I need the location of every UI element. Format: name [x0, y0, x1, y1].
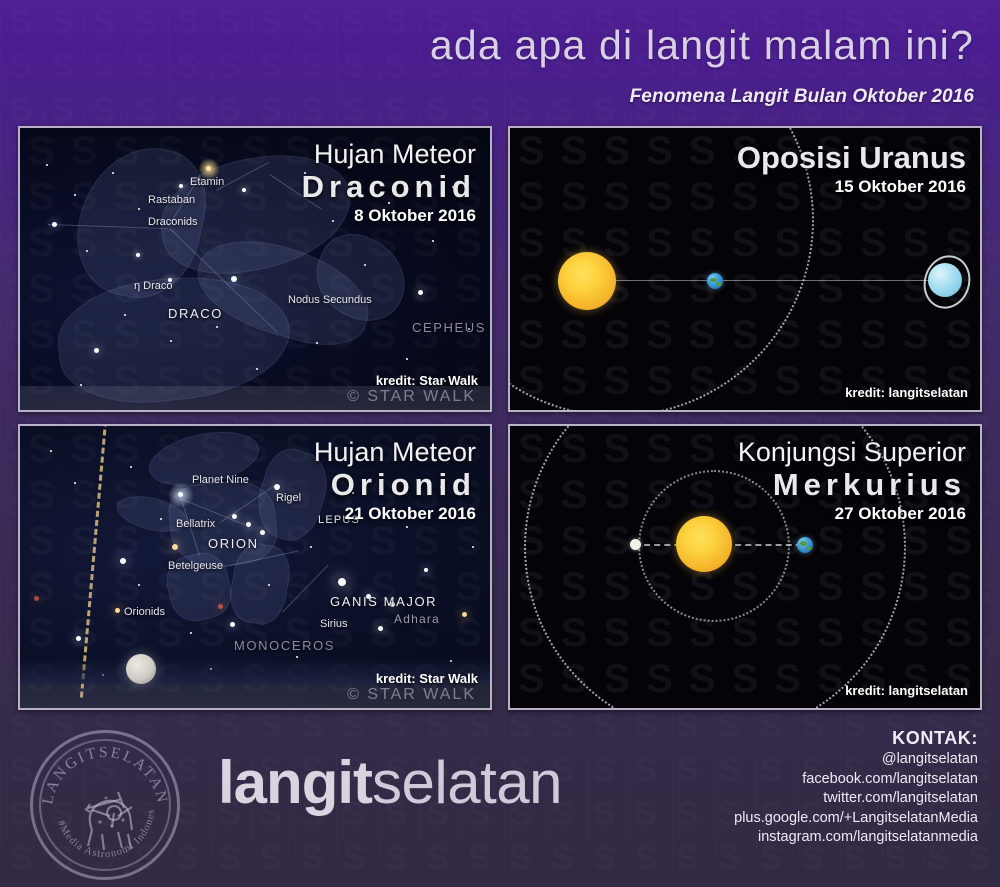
- watermark-glyph: S: [292, 704, 334, 748]
- star-orion-belt: [232, 514, 237, 519]
- starwalk-watermark-text: © STAR WALK: [347, 686, 476, 704]
- panel-title-orionid: Hujan Meteor Orionid 21 Oktober 2016: [314, 438, 476, 525]
- panel-date: 27 Oktober 2016: [738, 503, 966, 525]
- watermark-glyph: S: [458, 880, 500, 887]
- watermark-glyph: S: [250, 704, 292, 748]
- wordmark-light: selatan: [372, 749, 562, 816]
- label-rigel: Rigel: [276, 492, 301, 504]
- watermark-glyph: S: [875, 880, 917, 887]
- panel-draconid[interactable]: SSSSSSSSSSSSSSSSSSSSSSSSSSSSSSSSSSSSSSSS…: [18, 126, 492, 412]
- star-bright: [242, 188, 246, 192]
- watermark-glyph: S: [375, 880, 417, 887]
- body-mercury: [630, 539, 641, 550]
- star-small: [74, 194, 76, 196]
- watermark-glyph: S: [583, 880, 625, 887]
- watermark-glyph: S: [83, 880, 125, 887]
- panel-title-line2: Merkurius: [738, 467, 966, 503]
- star-rigel: [274, 484, 280, 490]
- watermark-glyph: S: [167, 880, 209, 887]
- watermark-glyph: S: [667, 792, 709, 836]
- star-small: [86, 250, 88, 252]
- star-bright: [424, 568, 428, 572]
- infographic-poster: SSSSSSSSSSSSSSSSSSSSSSSSSSSSSSSSSSSSSSSS…: [0, 0, 1000, 887]
- star-bright: [115, 608, 120, 613]
- watermark-glyph: S: [542, 836, 584, 880]
- watermark-glyph: S: [708, 880, 750, 887]
- watermark-glyph: S: [125, 880, 167, 887]
- contact-googleplus[interactable]: plus.google.com/+LangitselatanMedia: [734, 809, 978, 829]
- star-small: [46, 164, 48, 166]
- watermark-glyph: S: [500, 836, 542, 880]
- watermark-glyph: S: [333, 836, 375, 880]
- contact-instagram[interactable]: instagram.com/langitselatanmedia: [734, 828, 978, 848]
- panel-konjungsi-merkurius[interactable]: SSSSSSSSSSSSSSSSSSSSSSSSSSSSSSSSSSSSSSSS…: [508, 424, 982, 710]
- label-nodus-secundus: Nodus Secundus: [288, 294, 372, 306]
- watermark-glyph: S: [500, 704, 542, 748]
- star-small: [310, 546, 312, 548]
- star-small: [364, 264, 366, 266]
- panel-oposisi-uranus[interactable]: SSSSSSSSSSSSSSSSSSSSSSSSSSSSSSSSSSSSSSSS…: [508, 126, 982, 412]
- sagittarius-centaur-icon: [85, 792, 132, 850]
- panel-credit: kredit: langitselatan: [845, 683, 968, 698]
- watermark-glyph: S: [667, 880, 709, 887]
- panel-title-line2: Orionid: [314, 467, 476, 503]
- watermark-glyph: S: [625, 748, 667, 792]
- label-bellatrix: Bellatrix: [176, 518, 215, 530]
- watermark-glyph: S: [750, 880, 792, 887]
- watermark-glyph: S: [583, 792, 625, 836]
- star-cepheus: [418, 290, 423, 295]
- panel-title-line1: Konjungsi Superior: [738, 438, 966, 467]
- panel-date: 15 Oktober 2016: [737, 176, 966, 198]
- watermark-glyph: S: [375, 836, 417, 880]
- watermark-glyph: S: [417, 836, 459, 880]
- panel-orionid[interactable]: SSSSSSSSSSSSSSSSSSSSSSSSSSSSSSSSSSSSSSSS…: [18, 424, 492, 710]
- star-sirius: [338, 578, 346, 586]
- watermark-glyph: S: [458, 704, 500, 748]
- star-bright: [462, 612, 467, 617]
- panel-credit: kredit: Star Walk: [376, 373, 478, 388]
- label-cepheus: CEPHEUS: [412, 320, 486, 335]
- watermark-glyph: S: [250, 836, 292, 880]
- star-small: [316, 342, 318, 344]
- contact-facebook[interactable]: facebook.com/langitselatan: [734, 770, 978, 790]
- star-small: [138, 208, 140, 210]
- star-bellatrix: [178, 492, 183, 497]
- label-draco: DRACO: [168, 306, 223, 321]
- star-small: [406, 358, 408, 360]
- panel-credit: kredit: Star Walk: [376, 671, 478, 686]
- label-sirius: Sirius: [320, 618, 348, 630]
- label-etamin: Etamin: [190, 176, 224, 188]
- contact-twitter[interactable]: twitter.com/langitselatan: [734, 789, 978, 809]
- body-sun: [676, 516, 732, 572]
- watermark-glyph: S: [208, 880, 250, 887]
- logo-artwork: LANGITSELATAN #Media Astronomi Indonesia…: [30, 730, 180, 880]
- label-ganis-major: GANIS MAJOR: [330, 594, 437, 609]
- watermark-glyph: S: [667, 836, 709, 880]
- watermark-glyph: S: [250, 880, 292, 887]
- label-eta-draco: η Draco: [134, 280, 173, 292]
- star-bright: [378, 626, 383, 631]
- star-nebula: [34, 596, 39, 601]
- earth-landmass: [716, 282, 721, 286]
- watermark-glyph: S: [500, 880, 542, 887]
- panel-title-line1: Hujan Meteor: [314, 438, 476, 467]
- star-betelgeuse: [172, 544, 178, 550]
- watermark-glyph: S: [583, 836, 625, 880]
- watermark-glyph: S: [833, 880, 875, 887]
- star-small: [74, 482, 76, 484]
- watermark-glyph: S: [583, 704, 625, 748]
- watermark-glyph: S: [792, 880, 834, 887]
- star-small: [256, 368, 258, 370]
- label-orion: ORION: [208, 536, 259, 551]
- watermark-glyph: S: [625, 836, 667, 880]
- star-small: [124, 314, 126, 316]
- label-betelgeuse: Betelgeuse: [168, 560, 223, 572]
- body-sun: [558, 252, 616, 310]
- star-bright: [52, 222, 57, 227]
- star-etamin: [206, 166, 211, 171]
- star-small: [138, 584, 140, 586]
- page-subtitle: Fenomena Langit Bulan Oktober 2016: [630, 86, 974, 108]
- label-draconids: Draconids: [148, 216, 198, 228]
- label-orionids: Orionids: [124, 606, 165, 618]
- body-earth: [797, 537, 813, 553]
- star-small: [406, 526, 408, 528]
- watermark-glyph: S: [583, 748, 625, 792]
- watermark-glyph: S: [417, 704, 459, 748]
- watermark-glyph: S: [375, 704, 417, 748]
- watermark-glyph: S: [333, 704, 375, 748]
- panel-title-line1: Oposisi Uranus: [737, 140, 966, 176]
- star-bright: [230, 622, 235, 627]
- starwalk-watermark-bar: © STAR WALK: [20, 684, 490, 708]
- watermark-glyph: S: [0, 880, 42, 887]
- watermark-glyph: S: [667, 748, 709, 792]
- body-moon: [126, 654, 156, 684]
- panel-title-draconid: Hujan Meteor Draconid 8 Oktober 2016: [302, 140, 476, 227]
- star-small: [190, 632, 192, 634]
- star-bright: [76, 636, 81, 641]
- earth-landmass: [800, 541, 807, 546]
- contact-block: KONTAK: @langitselatan facebook.com/lang…: [734, 726, 978, 848]
- alignment-line: [598, 280, 946, 281]
- page-title: ada apa di langit malam ini?: [0, 22, 974, 68]
- watermark-glyph: S: [417, 880, 459, 887]
- wordmark-bold: langit: [218, 749, 372, 816]
- panel-credit: kredit: langitselatan: [845, 385, 968, 400]
- star-small: [170, 340, 172, 342]
- star-small: [472, 546, 474, 548]
- star-bright: [231, 276, 237, 282]
- langitselatan-logo: LANGITSELATAN #Media Astronomi Indonesia…: [30, 730, 180, 880]
- watermark-glyph: S: [42, 880, 84, 887]
- panel-title-line1: Hujan Meteor: [302, 140, 476, 169]
- watermark-glyph: S: [208, 704, 250, 748]
- watermark-glyph: S: [458, 836, 500, 880]
- watermark-glyph: S: [625, 704, 667, 748]
- star-small: [130, 466, 132, 468]
- watermark-glyph: S: [625, 880, 667, 887]
- star-orion-belt: [260, 530, 265, 535]
- star-small: [268, 584, 270, 586]
- label-rastaban: Rastaban: [148, 194, 195, 206]
- watermark-glyph: S: [667, 704, 709, 748]
- watermark-glyph: S: [542, 704, 584, 748]
- star-small: [50, 450, 52, 452]
- panel-title-uranus: Oposisi Uranus 15 Oktober 2016: [737, 140, 966, 198]
- panel-title-line2: Draconid: [302, 169, 476, 205]
- star-small: [112, 172, 114, 174]
- star-rastaban: [179, 184, 183, 188]
- starwalk-watermark-bar: © STAR WALK: [20, 386, 490, 410]
- watermark-glyph: S: [292, 836, 334, 880]
- watermark-glyph: S: [917, 880, 959, 887]
- watermark-glyph: S: [625, 792, 667, 836]
- watermark-glyph: S: [958, 880, 1000, 887]
- panel-date: 21 Oktober 2016: [314, 503, 476, 525]
- logo-top-text: LANGITSELATAN: [39, 744, 171, 806]
- watermark-glyph: S: [333, 880, 375, 887]
- panel-date: 8 Oktober 2016: [302, 205, 476, 227]
- brand-wordmark: langitselatan: [218, 752, 562, 814]
- star-small: [160, 518, 162, 520]
- label-monoceros: MONOCEROS: [234, 638, 335, 653]
- body-earth: [707, 273, 723, 289]
- star-bright: [120, 558, 126, 564]
- watermark-glyph: S: [542, 880, 584, 887]
- label-adhara: Adhara: [394, 612, 440, 626]
- star-small: [432, 240, 434, 242]
- star-small: [216, 326, 218, 328]
- panel-title-merkurius: Konjungsi Superior Merkurius 27 Oktober …: [738, 438, 966, 525]
- star-nebula: [218, 604, 223, 609]
- contact-handle[interactable]: @langitselatan: [734, 750, 978, 770]
- watermark-glyph: S: [292, 880, 334, 887]
- earth-landmass: [806, 546, 811, 550]
- star-bright: [94, 348, 99, 353]
- contact-heading: KONTAK:: [734, 726, 978, 750]
- starwalk-watermark-text: © STAR WALK: [347, 388, 476, 406]
- star-orion-belt: [246, 522, 251, 527]
- label-planet-nine: Planet Nine: [192, 474, 249, 486]
- watermark-glyph: S: [208, 836, 250, 880]
- star-nodus: [136, 253, 140, 257]
